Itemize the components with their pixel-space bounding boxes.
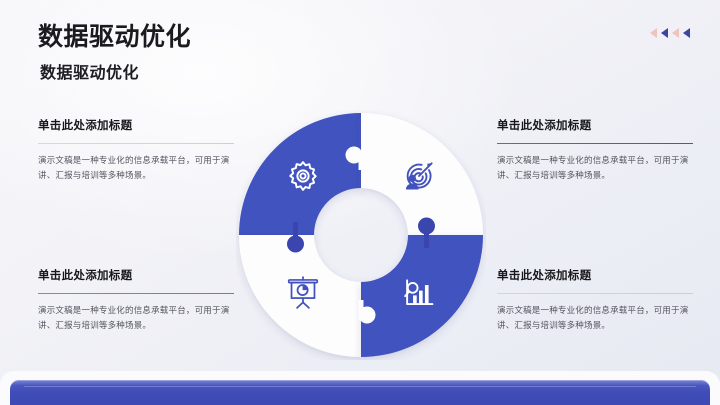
text-block-top-right: 单击此处添加标题 演示文稿是一种专业化的信息承载平台，可用于演讲、汇报与培训等多… [497,120,693,183]
presentation-pie-icon[interactable] [282,272,324,314]
block-body: 演示文稿是一种专业化的信息承载平台，可用于演讲、汇报与培训等多种场景。 [497,303,693,333]
block-body: 演示文稿是一种专业化的信息承载平台，可用于演讲、汇报与培训等多种场景。 [497,153,693,183]
donut-segments [236,110,486,360]
gear-icon[interactable] [282,155,324,197]
triangle-solid-icon[interactable] [683,28,690,38]
block-title: 单击此处添加标题 [38,270,234,284]
triangle-outline-icon[interactable] [672,28,679,38]
block-divider [38,293,234,294]
text-block-top-left: 单击此处添加标题 演示文稿是一种专业化的信息承载平台，可用于演讲、汇报与培训等多… [38,120,234,183]
page-subtitle: 数据驱动优化 [40,66,139,82]
puzzle-donut-diagram [236,110,486,360]
page-title: 数据驱动优化 [38,25,191,50]
block-body: 演示文稿是一种专业化的信息承载平台，可用于演讲、汇报与培训等多种场景。 [38,303,234,333]
block-divider [38,143,234,144]
bottom-accent-bar [10,380,710,405]
block-title: 单击此处添加标题 [38,120,234,134]
block-title: 单击此处添加标题 [497,270,693,284]
target-person-icon[interactable] [398,155,440,197]
block-divider [497,293,693,294]
block-divider [497,143,693,144]
slide-canvas: 数据驱动优化 数据驱动优化 单击此处添加标题 演示文稿是一种专业化的信息承载平台… [0,0,720,405]
triangle-solid-icon[interactable] [661,28,668,38]
bar-chart-search-icon[interactable] [398,272,440,314]
text-block-bottom-right: 单击此处添加标题 演示文稿是一种专业化的信息承载平台，可用于演讲、汇报与培训等多… [497,270,693,333]
text-block-bottom-left: 单击此处添加标题 演示文稿是一种专业化的信息承载平台，可用于演讲、汇报与培训等多… [38,270,234,333]
block-body: 演示文稿是一种专业化的信息承载平台，可用于演讲、汇报与培训等多种场景。 [38,153,234,183]
triangle-outline-icon[interactable] [650,28,657,38]
block-title: 单击此处添加标题 [497,120,693,134]
nav-marks [650,28,690,38]
